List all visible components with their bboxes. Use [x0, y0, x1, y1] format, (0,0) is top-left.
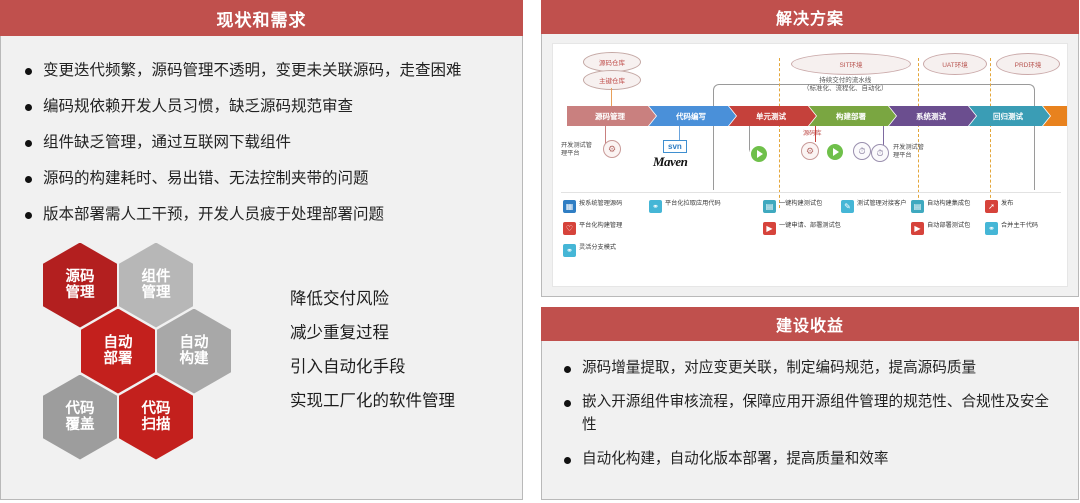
legend-item: ⚭ 合并主干代码 — [985, 222, 1038, 235]
hex-code-scan: 代码 扫描 — [119, 375, 193, 460]
stage-source-management[interactable]: 源码管理 — [567, 106, 656, 126]
env-uat: UAT环境 — [923, 53, 987, 75]
stage-system-test[interactable]: 系统测试 — [889, 106, 976, 126]
rocket-icon: ➚ — [985, 200, 998, 213]
legend-item: ⚭ 平台化拉取应用代码 — [649, 200, 721, 213]
list-item: 自动化构建，自动化版本部署，提高质量和效率 — [562, 448, 1060, 472]
env-separator-sit — [779, 58, 780, 208]
stage-regression-test[interactable]: 回归测试 — [969, 106, 1050, 126]
panel-current-situation-body: 变更迭代频繁，源码管理不透明，变更未关联源码，走查困难 编码规依赖开发人员习惯，… — [0, 36, 523, 500]
hex-source-management: 源码 管理 — [43, 243, 117, 328]
hexagon-cluster: 源码 管理 组件 管理 自动 部署 自动 构建 代码 覆盖 — [37, 239, 252, 464]
play-icon — [749, 144, 769, 164]
benefit-item: 减少重复过程 — [290, 317, 455, 351]
env-prd: PRD环境 — [996, 53, 1060, 75]
edit-icon: ✎ — [841, 200, 854, 213]
play-icon: ▶ — [763, 222, 776, 235]
current-situation-bullet-list: 变更迭代频繁，源码管理不透明，变更未关联源码，走查困难 编码规依赖开发人员习惯，… — [23, 58, 504, 228]
env-separator-prd — [990, 58, 991, 208]
list-item: 组件缺乏管理，通过互联网下载组件 — [23, 130, 504, 155]
grid-icon: ▦ — [563, 200, 576, 213]
pipeline-stage-row: 源码管理 代码编写 单元测试 构建部署 系统测试 回归测试 提交发布 — [567, 106, 1068, 126]
platform-label-left: 开发测试管理平台 — [561, 142, 592, 159]
cicd-pipeline-diagram: 源码仓库 主键仓库 SIT环境 UAT环境 PRD环境 持续交付的流水线 （标准… — [552, 43, 1068, 287]
platform-label-right: 开发测试管理平台 — [893, 144, 924, 161]
branch-icon: ⚭ — [563, 244, 576, 257]
repo-connector-line — [611, 88, 612, 106]
panel-current-situation: 现状和需求 变更迭代频繁，源码管理不透明，变更未关联源码，走查困难 编码规依赖开… — [0, 0, 523, 500]
panel-construction-benefit-title: 建设收益 — [541, 307, 1079, 341]
hex-auto-deploy: 自动 部署 — [81, 309, 155, 394]
construction-benefit-bullet-list: 源码增量提取，对应变更关联，制定编码规范，提高源码质量 嵌入开源组件审核流程，保… — [562, 357, 1060, 472]
heart-icon: ♡ — [563, 222, 576, 235]
branch-icon: ⚭ — [985, 222, 998, 235]
legend-item: ▦ 按系统管理源码 — [563, 200, 622, 213]
legend-item: ⚭ 灵活分支模式 — [563, 244, 616, 257]
expected-benefit-list: 降低交付风险 减少重复过程 引入自动化手段 实现工厂化的软件管理 — [290, 283, 455, 418]
panel-solution-title: 解决方案 — [541, 0, 1079, 34]
branch-icon: ⚭ — [649, 200, 662, 213]
package-icon: ▤ — [911, 200, 924, 213]
benefit-item: 实现工厂化的软件管理 — [290, 385, 455, 419]
legend-divider — [561, 192, 1061, 193]
stage-code-writing[interactable]: 代码编写 — [649, 106, 736, 126]
list-item: 变更迭代频繁，源码管理不透明，变更未关联源码，走查困难 — [23, 58, 504, 83]
env-separator-uat — [918, 58, 919, 208]
env-sit: SIT环境 — [791, 53, 911, 75]
continuous-delivery-box — [713, 84, 1035, 190]
legend-item: ▶ 自动部署测试包 — [911, 222, 970, 235]
legend-item: ➚ 发布 — [985, 200, 1013, 213]
capability-overview-row: 源码 管理 组件 管理 自动 部署 自动 构建 代码 覆盖 — [23, 239, 504, 464]
legend-item: ▶ 一键申请、部署测试包 — [763, 222, 841, 235]
list-item: 版本部署需人工干预，开发人员疲于处理部署问题 — [23, 202, 504, 227]
legend-item: ♡ 平台化构建管理 — [563, 222, 622, 235]
play-icon — [825, 142, 845, 162]
package-icon: ▤ — [763, 200, 776, 213]
svn-logo: svn — [663, 140, 687, 153]
repo-master: 主键仓库 — [583, 70, 641, 90]
list-item: 源码增量提取，对应变更关联，制定编码规范，提高源码质量 — [562, 357, 1060, 381]
hex-auto-build: 自动 构建 — [157, 309, 231, 394]
build-repo-label: 源码库 — [803, 130, 822, 138]
legend-item: ▤ 自动构建集成包 — [911, 200, 970, 213]
benefit-item: 引入自动化手段 — [290, 351, 455, 385]
panel-current-situation-title: 现状和需求 — [0, 0, 523, 36]
list-item: 嵌入开源组件审核流程，保障应用开源组件管理的规范性、合规性及安全性 — [562, 391, 1060, 438]
list-item: 编码规依赖开发人员习惯，缺乏源码规范审查 — [23, 94, 504, 119]
repo-source: 源码仓库 — [583, 52, 641, 72]
play-icon: ▶ — [911, 222, 924, 235]
panel-construction-benefit: 建设收益 源码增量提取，对应变更关联，制定编码规范，提高源码质量 嵌入开源组件审… — [541, 307, 1079, 500]
hex-component-management: 组件 管理 — [119, 243, 193, 328]
continuous-delivery-label: 持续交付的流水线 （标准化、流程化、自动化） — [803, 77, 888, 94]
hex-code-coverage: 代码 覆盖 — [43, 375, 117, 460]
panel-construction-benefit-body: 源码增量提取，对应变更关联，制定编码规范，提高源码质量 嵌入开源组件审核流程，保… — [541, 341, 1079, 500]
gear-icon: ⚙ — [603, 140, 621, 158]
panel-solution-body: 源码仓库 主键仓库 SIT环境 UAT环境 PRD环境 持续交付的流水线 （标准… — [541, 34, 1079, 297]
stage-build-deploy[interactable]: 构建部署 — [809, 106, 896, 126]
maven-logo: Maven — [653, 154, 687, 170]
legend-item: ✎ 测试管理对接客户 — [841, 200, 907, 213]
gear-icon: ⚙ — [801, 142, 819, 160]
gauge-icon: ⏱ — [853, 142, 871, 160]
list-item: 源码的构建耗时、易出错、无法控制夹带的问题 — [23, 166, 504, 191]
gauge-icon: ⏱ — [871, 144, 889, 162]
legend-item: ▤ 一键构建测试包 — [763, 200, 822, 213]
panel-solution: 解决方案 源码仓库 主键仓库 SIT环境 UAT环境 PRD环境 持续交付的流水… — [541, 0, 1079, 297]
benefit-item: 降低交付风险 — [290, 283, 455, 317]
stage-unit-test[interactable]: 单元测试 — [729, 106, 816, 126]
